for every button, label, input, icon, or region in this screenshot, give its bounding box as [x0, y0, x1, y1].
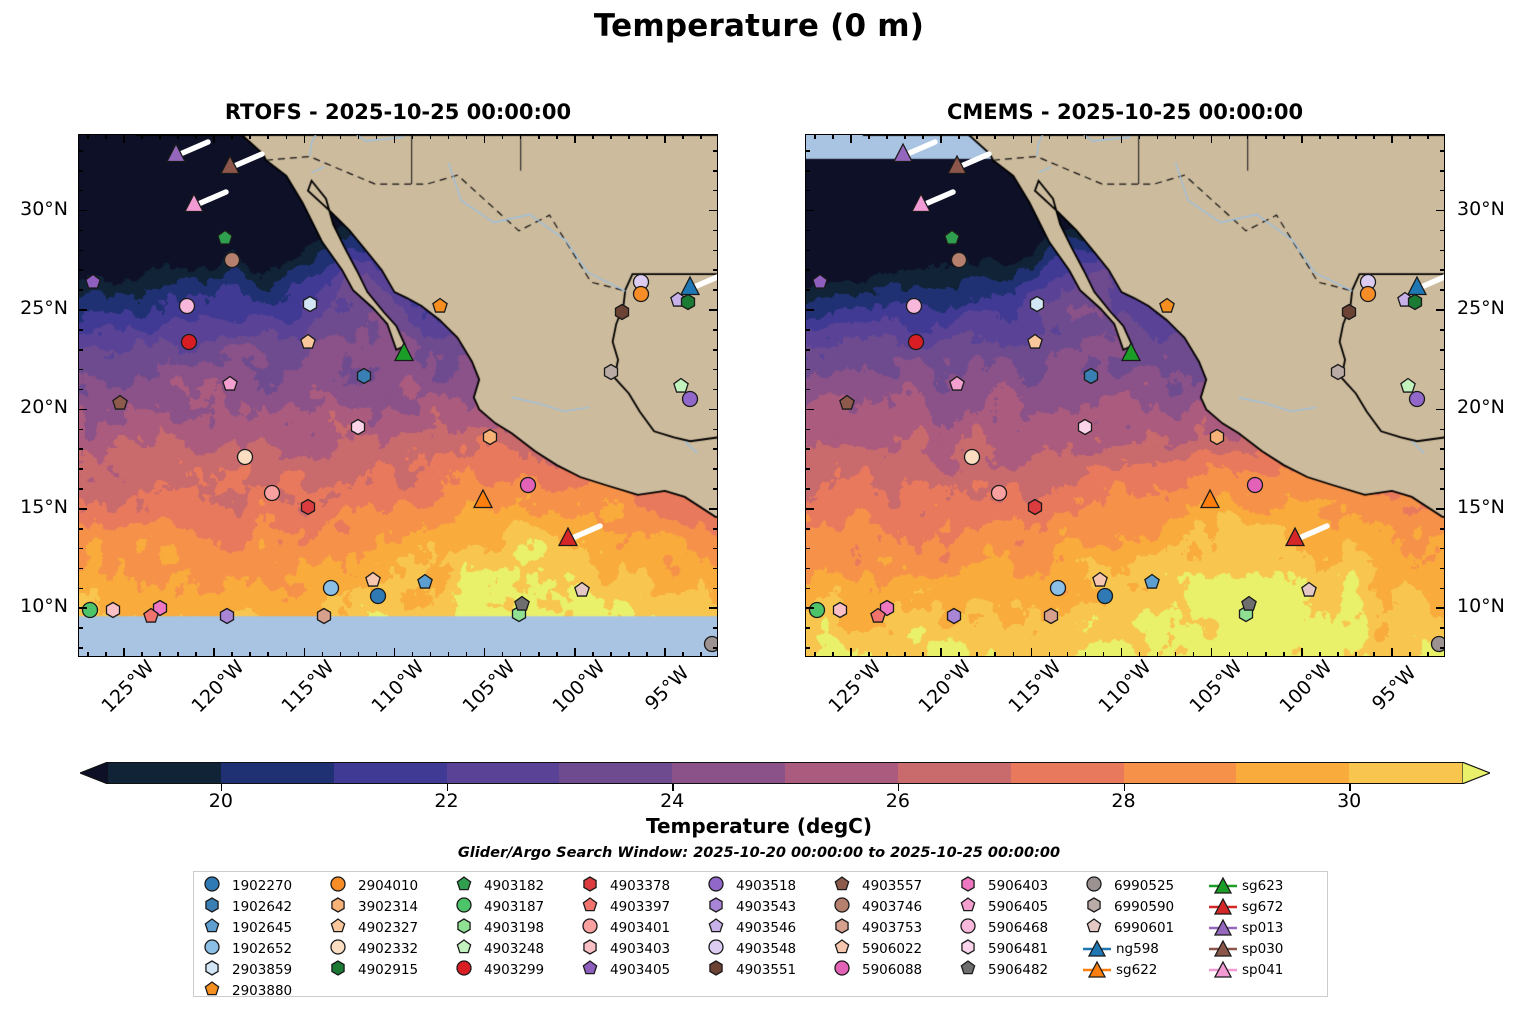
x-tick-minor	[1103, 135, 1105, 139]
x-tick-minor	[1229, 135, 1231, 139]
map-marker-4903401[interactable]	[990, 484, 1007, 501]
colorbar-tick-label: 26	[886, 790, 910, 812]
x-tick-major	[574, 648, 576, 656]
legend-marker-pentagon-icon	[452, 876, 482, 896]
legend-marker-triangle-line-icon	[1208, 918, 1238, 938]
x-tick-minor	[646, 135, 648, 139]
map-marker-5906468[interactable]	[179, 298, 196, 315]
map-marker-1902652[interactable]	[323, 580, 340, 597]
map-marker-sp030[interactable]	[947, 154, 968, 175]
y-tick-major	[709, 508, 717, 510]
x-axis-label: 95°W	[638, 662, 693, 717]
colorbar-extend-max	[1462, 762, 1490, 784]
map-marker-5906022[interactable]	[1091, 572, 1108, 589]
map-marker-4903187[interactable]	[808, 602, 825, 619]
y-tick-major	[1436, 309, 1444, 311]
map-marker-sp041[interactable]	[184, 192, 205, 213]
y-tick-minor	[1440, 647, 1444, 649]
legend-label: sp013	[1242, 919, 1283, 937]
legend-label: 6990601	[1114, 919, 1174, 937]
legend-marker-hexagon-icon	[452, 918, 482, 938]
x-tick-minor	[994, 652, 996, 656]
map-marker-sp041[interactable]	[911, 192, 932, 213]
legend-marker-pentagon-icon	[1082, 918, 1112, 938]
figure-title: Temperature (0 m)	[0, 8, 1518, 44]
y-tick-minor	[79, 627, 83, 629]
y-tick-major	[709, 309, 717, 311]
map-marker-4902327[interactable]	[299, 333, 316, 350]
x-tick-minor	[1049, 135, 1051, 139]
x-tick-minor	[994, 135, 996, 139]
legend-label: 4903546	[736, 919, 796, 937]
x-tick-minor	[700, 135, 702, 139]
y-axis-label-left: 15°N	[0, 496, 68, 518]
x-tick-minor	[1265, 652, 1267, 656]
x-tick-major	[394, 648, 396, 656]
y-tick-minor	[1440, 488, 1444, 490]
y-tick-minor	[1440, 269, 1444, 271]
colorbar-band	[672, 762, 785, 784]
legend-marker-triangle-line-icon	[1208, 960, 1238, 980]
x-tick-major	[664, 648, 666, 656]
y-tick-minor	[806, 528, 810, 530]
y-tick-minor	[713, 588, 717, 590]
map-marker-4903746[interactable]	[951, 252, 968, 269]
legend-marker-triangle-line-icon	[1082, 960, 1112, 980]
map-marker-6990525[interactable]	[703, 636, 718, 653]
y-tick-major	[1436, 508, 1444, 510]
x-axis-label: 110°W	[1095, 662, 1150, 717]
map-marker-5906088[interactable]	[1246, 476, 1263, 493]
map-marker-5906468[interactable]	[906, 298, 923, 315]
y-tick-minor	[79, 250, 83, 252]
y-tick-minor	[806, 548, 810, 550]
x-tick-minor	[376, 652, 378, 656]
legend-label: 4902915	[358, 961, 418, 979]
map-marker-4903543[interactable]	[945, 608, 962, 625]
map-marker-sp030[interactable]	[220, 154, 241, 175]
map-marker-sg622[interactable]	[472, 488, 493, 509]
y-tick-minor	[806, 389, 810, 391]
x-tick-minor	[358, 652, 360, 656]
y-tick-minor	[1440, 329, 1444, 331]
x-tick-minor	[1175, 135, 1177, 139]
sst-field-rtofs	[79, 135, 718, 657]
y-tick-minor	[713, 468, 717, 470]
x-tick-minor	[592, 135, 594, 139]
map-marker-4903518[interactable]	[682, 391, 699, 408]
y-tick-minor	[713, 448, 717, 450]
x-tick-major	[304, 648, 306, 656]
map-marker-4903397[interactable]	[870, 608, 887, 625]
legend-marker-hexagon-icon	[578, 939, 608, 959]
legend-label: 2903859	[232, 961, 292, 979]
map-marker-sg672[interactable]	[557, 526, 578, 547]
map-marker-1902645[interactable]	[1144, 574, 1161, 591]
map-marker-6990590[interactable]	[1329, 363, 1346, 380]
x-tick-major	[304, 135, 306, 143]
y-tick-minor	[1440, 369, 1444, 371]
legend-label: 3902314	[358, 898, 418, 916]
map-panel-cmems[interactable]	[805, 134, 1445, 657]
legend-marker-hexagon-icon	[200, 897, 230, 917]
y-tick-minor	[806, 488, 810, 490]
legend-marker-pentagon-icon	[452, 939, 482, 959]
y-tick-minor	[806, 429, 810, 431]
y-tick-major	[806, 607, 814, 609]
x-tick-minor	[249, 135, 251, 139]
x-tick-minor	[1283, 652, 1285, 656]
legend-marker-pentagon-icon	[956, 897, 986, 917]
x-tick-minor	[159, 135, 161, 139]
x-tick-minor	[886, 652, 888, 656]
x-tick-major	[940, 648, 942, 656]
colorbar-tick-label: 24	[660, 790, 684, 812]
x-tick-minor	[1427, 135, 1429, 139]
y-tick-major	[1436, 409, 1444, 411]
map-marker-4903746[interactable]	[224, 252, 241, 269]
map-marker-6990525[interactable]	[1430, 636, 1445, 653]
x-tick-minor	[1337, 135, 1339, 139]
y-tick-minor	[713, 230, 717, 232]
y-tick-minor	[806, 588, 810, 590]
x-tick-major	[213, 648, 215, 656]
x-tick-major	[213, 135, 215, 143]
x-tick-minor	[832, 135, 834, 139]
x-tick-major	[1211, 135, 1213, 143]
map-marker-4903551[interactable]	[613, 303, 630, 320]
y-tick-minor	[713, 389, 717, 391]
legend-label: ng598	[1116, 940, 1159, 958]
x-tick-major	[1121, 135, 1123, 143]
x-tick-major	[1301, 648, 1303, 656]
x-tick-minor	[682, 135, 684, 139]
x-tick-minor	[1247, 135, 1249, 139]
x-axis-label: 110°W	[368, 662, 423, 717]
legend-marker-circle-icon	[200, 876, 230, 896]
y-tick-major	[79, 607, 87, 609]
legend-marker-circle-icon	[830, 960, 860, 980]
legend-marker-circle-icon	[956, 918, 986, 938]
map-canvas-rtofs	[79, 135, 717, 656]
map-marker-4903753[interactable]	[316, 608, 333, 625]
y-tick-major	[79, 409, 87, 411]
map-marker-2904010[interactable]	[1360, 286, 1377, 303]
y-tick-minor	[713, 269, 717, 271]
y-axis-label-right: 25°N	[1457, 297, 1518, 319]
map-marker-5906482[interactable]	[1241, 596, 1258, 613]
colorbar-band	[334, 762, 447, 784]
map-marker-3902314[interactable]	[482, 429, 499, 446]
legend-label: 4903551	[736, 961, 796, 979]
y-tick-minor	[806, 329, 810, 331]
map-marker-4903405[interactable]	[812, 274, 829, 291]
x-tick-minor	[249, 652, 251, 656]
map-marker-4902915[interactable]	[680, 294, 697, 311]
map-marker-4903187[interactable]	[81, 602, 98, 619]
colorbar-band	[221, 762, 334, 784]
y-tick-minor	[1440, 588, 1444, 590]
y-tick-minor	[806, 269, 810, 271]
y-axis-label-left: 20°N	[0, 396, 68, 418]
map-marker-5906481[interactable]	[350, 419, 367, 436]
colorbar-band	[785, 762, 898, 784]
colorbar-tick-label: 22	[434, 790, 458, 812]
x-tick-minor	[958, 135, 960, 139]
x-tick-major	[1031, 648, 1033, 656]
colorbar-band	[1011, 762, 1124, 784]
legend-marker-hexagon-icon	[326, 897, 356, 917]
y-tick-major	[1436, 607, 1444, 609]
map-canvas-cmems	[806, 135, 1444, 656]
map-marker-2903880[interactable]	[431, 298, 448, 315]
map-marker-sp013[interactable]	[166, 142, 187, 163]
map-marker-4903551[interactable]	[1340, 303, 1357, 320]
x-tick-minor	[700, 652, 702, 656]
colorbar-band	[447, 762, 560, 784]
map-marker-5906088[interactable]	[519, 476, 536, 493]
y-axis-label-left: 10°N	[0, 595, 68, 617]
x-tick-minor	[195, 652, 197, 656]
y-tick-minor	[1440, 389, 1444, 391]
y-tick-minor	[79, 230, 83, 232]
legend-marker-pentagon-icon	[326, 918, 356, 938]
map-marker-4903299[interactable]	[180, 333, 197, 350]
map-marker-1902645[interactable]	[417, 574, 434, 591]
legend-marker-triangle-line-icon	[1208, 939, 1238, 959]
x-tick-minor	[538, 135, 540, 139]
x-tick-minor	[105, 652, 107, 656]
map-marker-4903182[interactable]	[944, 230, 961, 247]
y-tick-minor	[1440, 170, 1444, 172]
x-tick-minor	[195, 135, 197, 139]
x-tick-minor	[976, 135, 978, 139]
x-tick-minor	[814, 135, 816, 139]
legend-label: sg623	[1242, 877, 1283, 895]
map-marker-3902314[interactable]	[1209, 429, 1226, 446]
x-tick-minor	[1355, 652, 1357, 656]
map-marker-1902652[interactable]	[1050, 580, 1067, 597]
x-tick-major	[1211, 648, 1213, 656]
y-tick-minor	[806, 369, 810, 371]
x-tick-minor	[1175, 652, 1177, 656]
map-marker-4903405[interactable]	[85, 274, 102, 291]
x-tick-minor	[628, 652, 630, 656]
map-marker-4902915[interactable]	[1407, 294, 1424, 311]
legend-label: 4903401	[610, 919, 670, 937]
x-tick-minor	[922, 135, 924, 139]
x-tick-major	[574, 135, 576, 143]
x-axis-label: 125°W	[97, 662, 152, 717]
y-tick-minor	[1440, 468, 1444, 470]
legend-label: 1902270	[232, 877, 292, 895]
x-tick-minor	[556, 135, 558, 139]
y-tick-minor	[79, 369, 83, 371]
y-tick-minor	[79, 289, 83, 291]
map-marker-4903378[interactable]	[1026, 498, 1043, 515]
y-axis-label-left: 25°N	[0, 297, 68, 319]
map-marker-2903859[interactable]	[301, 296, 318, 313]
x-tick-minor	[448, 135, 450, 139]
colorbar	[80, 762, 1490, 784]
legend-marker-circle-icon	[326, 939, 356, 959]
y-tick-minor	[79, 349, 83, 351]
map-marker-4903182[interactable]	[217, 230, 234, 247]
legend-label: 5906405	[988, 898, 1048, 916]
map-marker-4903378[interactable]	[299, 498, 316, 515]
map-marker-2903880[interactable]	[1158, 298, 1175, 315]
x-tick-minor	[1373, 652, 1375, 656]
legend-label: 4903299	[484, 961, 544, 979]
map-marker-1902642[interactable]	[355, 367, 372, 384]
y-tick-minor	[713, 568, 717, 570]
legend-marker-triangle-line-icon	[1082, 939, 1112, 959]
map-marker-5906482[interactable]	[514, 596, 531, 613]
map-marker-4903299[interactable]	[907, 333, 924, 350]
x-axis-label: 100°W	[1275, 662, 1330, 717]
search-window-subtitle: Glider/Argo Search Window: 2025-10-20 00…	[0, 845, 1518, 861]
map-marker-4903403[interactable]	[105, 602, 122, 619]
colorbar-band	[108, 762, 221, 784]
map-marker-1902270[interactable]	[1097, 588, 1114, 605]
map-marker-sp013[interactable]	[893, 142, 914, 163]
legend-label: sp041	[1242, 961, 1283, 979]
map-marker-4903403[interactable]	[832, 602, 849, 619]
legend: 1902270190264219026451902652290385929038…	[193, 871, 1328, 997]
legend-marker-circle-icon	[200, 939, 230, 959]
map-marker-1902270[interactable]	[370, 588, 387, 605]
y-tick-minor	[1440, 289, 1444, 291]
colorbar-tick-label: 30	[1337, 790, 1361, 812]
y-tick-minor	[713, 369, 717, 371]
y-axis-label-left: 30°N	[0, 198, 68, 220]
legend-marker-circle-icon	[1082, 876, 1112, 896]
map-marker-sg623[interactable]	[393, 341, 414, 362]
x-tick-major	[850, 648, 852, 656]
y-tick-minor	[1440, 190, 1444, 192]
map-marker-4903543[interactable]	[218, 608, 235, 625]
y-tick-minor	[1440, 429, 1444, 431]
y-tick-minor	[713, 289, 717, 291]
x-tick-major	[664, 135, 666, 143]
map-marker-4902332[interactable]	[236, 449, 253, 466]
legend-label: 5906403	[988, 877, 1048, 895]
legend-label: 5906481	[988, 940, 1048, 958]
x-tick-major	[394, 135, 396, 143]
y-tick-major	[709, 210, 717, 212]
legend-marker-hexagon-icon	[200, 960, 230, 980]
colorbar-tick-label: 28	[1111, 790, 1135, 812]
map-marker-4903397[interactable]	[143, 608, 160, 625]
y-tick-minor	[79, 190, 83, 192]
x-tick-minor	[814, 652, 816, 656]
legend-label: 4903746	[862, 898, 922, 916]
panel-title-rtofs: RTOFS - 2025-10-25 00:00:00	[78, 100, 718, 124]
y-tick-minor	[1440, 568, 1444, 570]
map-marker-5906481[interactable]	[1077, 419, 1094, 436]
legend-label: 4903198	[484, 919, 544, 937]
map-marker-sg623[interactable]	[1120, 341, 1141, 362]
legend-label: 5906088	[862, 961, 922, 979]
y-tick-minor	[806, 289, 810, 291]
legend-label: 4903403	[610, 940, 670, 958]
x-tick-minor	[1427, 652, 1429, 656]
map-marker-4903518[interactable]	[1409, 391, 1426, 408]
map-panel-rtofs[interactable]	[78, 134, 718, 657]
legend-marker-pentagon-icon	[200, 981, 230, 1001]
x-tick-minor	[466, 135, 468, 139]
map-marker-5906405[interactable]	[222, 375, 239, 392]
legend-marker-pentagon-icon	[830, 876, 860, 896]
y-axis-label-right: 15°N	[1457, 496, 1518, 518]
x-tick-major	[123, 135, 125, 143]
x-tick-minor	[1067, 652, 1069, 656]
map-marker-4902332[interactable]	[963, 449, 980, 466]
y-tick-minor	[79, 389, 83, 391]
map-marker-1902642[interactable]	[1082, 367, 1099, 384]
y-tick-minor	[79, 150, 83, 152]
x-axis-label: 120°W	[188, 662, 243, 717]
legend-label: 4903405	[610, 961, 670, 979]
x-tick-minor	[886, 135, 888, 139]
y-tick-minor	[1440, 250, 1444, 252]
map-marker-4902327[interactable]	[1026, 333, 1043, 350]
legend-label: 1902642	[232, 898, 292, 916]
x-tick-minor	[267, 135, 269, 139]
map-marker-sg622[interactable]	[1199, 488, 1220, 509]
x-tick-minor	[520, 135, 522, 139]
x-tick-minor	[628, 135, 630, 139]
y-tick-minor	[713, 627, 717, 629]
y-tick-minor	[713, 349, 717, 351]
map-marker-4903401[interactable]	[263, 484, 280, 501]
map-marker-4903557[interactable]	[112, 395, 129, 412]
y-tick-minor	[1440, 448, 1444, 450]
y-tick-minor	[79, 448, 83, 450]
map-marker-4903557[interactable]	[839, 395, 856, 412]
x-tick-minor	[87, 652, 89, 656]
map-marker-5906022[interactable]	[364, 572, 381, 589]
x-tick-minor	[322, 135, 324, 139]
map-marker-2903859[interactable]	[1028, 296, 1045, 313]
map-marker-2904010[interactable]	[633, 286, 650, 303]
map-marker-4903753[interactable]	[1043, 608, 1060, 625]
x-tick-minor	[904, 652, 906, 656]
legend-marker-pentagon-icon	[200, 918, 230, 938]
map-marker-sg672[interactable]	[1284, 526, 1305, 547]
y-tick-minor	[713, 170, 717, 172]
y-tick-minor	[806, 568, 810, 570]
y-tick-minor	[713, 429, 717, 431]
x-tick-minor	[430, 135, 432, 139]
legend-label: 4903753	[862, 919, 922, 937]
map-marker-6990590[interactable]	[602, 363, 619, 380]
map-marker-6990601[interactable]	[573, 582, 590, 599]
x-tick-major	[1031, 135, 1033, 143]
x-tick-minor	[610, 135, 612, 139]
y-tick-minor	[806, 190, 810, 192]
x-tick-minor	[1355, 135, 1357, 139]
y-axis-label-right: 20°N	[1457, 396, 1518, 418]
x-tick-major	[123, 648, 125, 656]
y-tick-minor	[79, 269, 83, 271]
x-tick-minor	[1103, 652, 1105, 656]
y-tick-minor	[1440, 150, 1444, 152]
legend-label: 2903880	[232, 982, 292, 1000]
map-marker-5906405[interactable]	[949, 375, 966, 392]
y-tick-minor	[806, 647, 810, 649]
map-marker-6990601[interactable]	[1300, 582, 1317, 599]
